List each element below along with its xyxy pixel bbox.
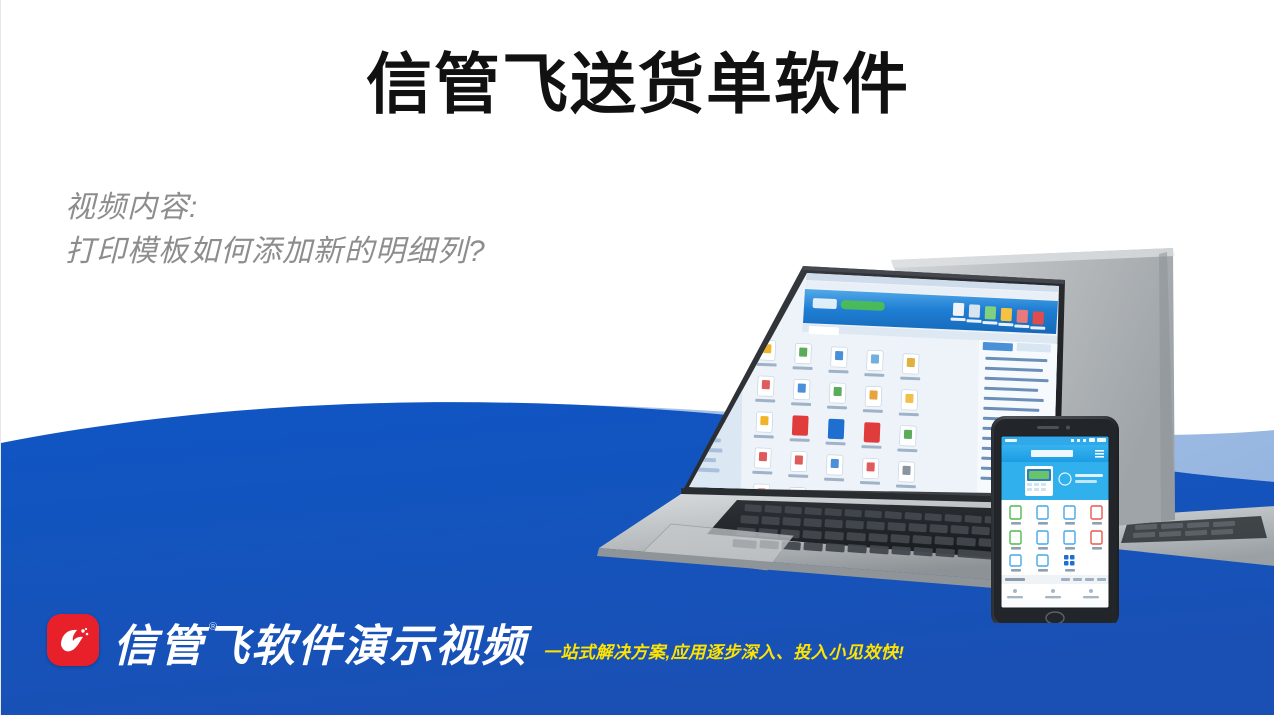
page-title: 信管飞送货单软件: [1, 48, 1274, 121]
brand-text-wrap: ® 信管飞软件演示视频: [113, 625, 527, 669]
video-content-block: 视频内容: 打印模板如何添加新的明细列?: [65, 186, 486, 274]
footer-brand: ® 信管飞软件演示视频 一站式解决方案,应用逐步深入、投入小见效快!: [47, 614, 904, 669]
brand-logo-icon: [47, 614, 99, 666]
video-content-topic: 打印模板如何添加新的明细列?: [65, 230, 486, 274]
registered-mark: ®: [209, 621, 217, 633]
brand-name: 信管飞软件演示视频: [113, 625, 527, 669]
device-illustration: [561, 248, 1274, 618]
brand-tagline: 一站式解决方案,应用逐步深入、投入小见效快!: [543, 638, 904, 663]
video-content-label: 视频内容:: [65, 186, 486, 230]
smartphone-group: [991, 416, 1119, 623]
slide-canvas: 信管飞送货单软件 视频内容: 打印模板如何添加新的明细列?: [0, 0, 1274, 715]
